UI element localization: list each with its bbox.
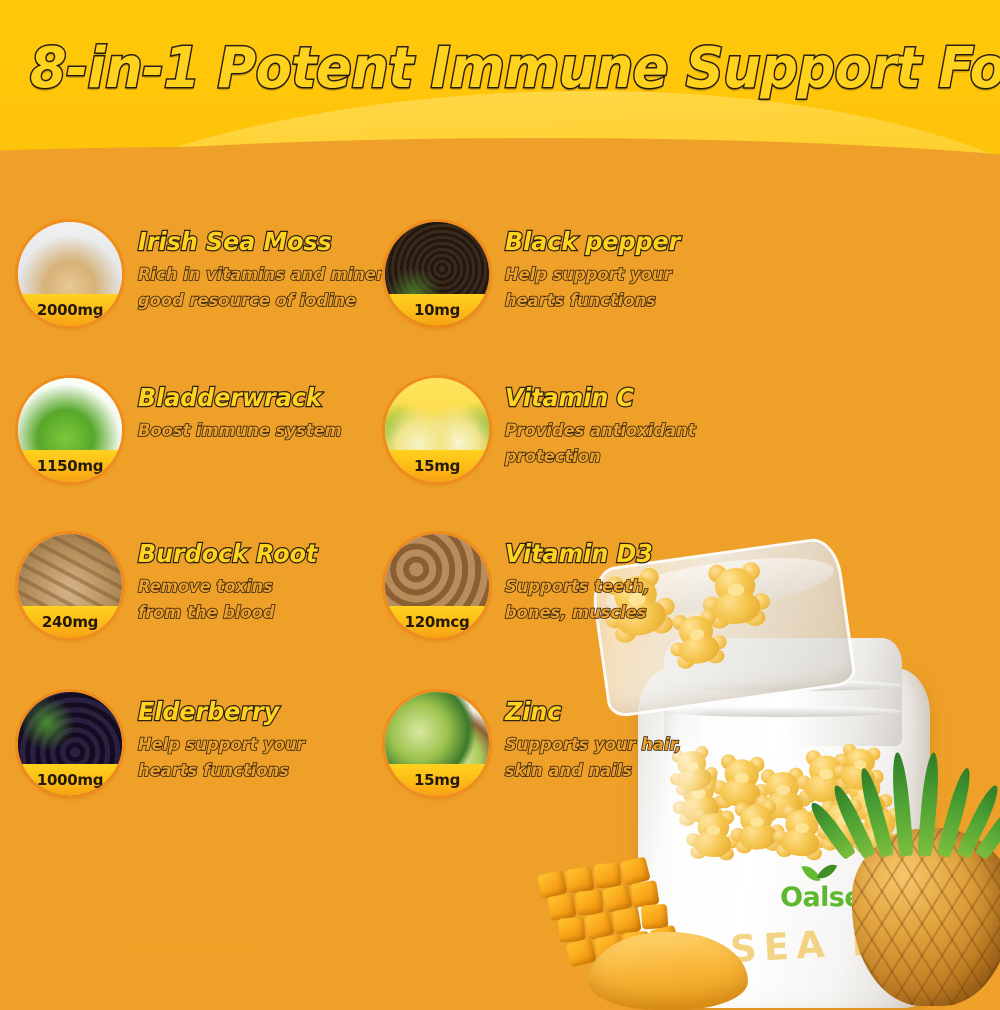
ingredient-text-block: ZincSupports your hair,skin and nails: [505, 698, 755, 784]
ingredient-dose-badge: 1150mg: [18, 450, 122, 482]
ingredient-item: 1000mgElderberryHelp support yourhearts …: [18, 692, 388, 842]
ingredient-photo-badge: 2000mg: [18, 222, 122, 326]
ingredient-name: Vitamin D3: [505, 540, 743, 568]
ingredient-name: Zinc: [505, 698, 743, 726]
ingredient-photo-badge: 15mg: [385, 692, 489, 796]
ingredient-photo-badge: 1150mg: [18, 378, 122, 482]
ingredient-dose-badge: 240mg: [18, 606, 122, 638]
ingredient-photo-badge: 240mg: [18, 534, 122, 638]
ingredient-dose-badge: 15mg: [385, 450, 489, 482]
ingredient-description: Supports teeth,bones, muscles: [505, 574, 745, 627]
ingredient-dose-badge: 10mg: [385, 294, 489, 326]
ingredient-description-line: protection: [505, 444, 745, 470]
ingredient-grid: 2000mgIrish Sea MossRich in vitamins and…: [0, 200, 1000, 880]
ingredient-name: Vitamin C: [505, 384, 743, 412]
ingredient-photo-badge: 1000mg: [18, 692, 122, 796]
ingredient-name: Black pepper: [505, 228, 743, 256]
ingredient-text-block: Black pepperHelp support yourhearts func…: [505, 228, 755, 314]
mango-cube: [641, 904, 669, 930]
ingredient-photo-badge: 120mcg: [385, 534, 489, 638]
ingredient-dose-badge: 1000mg: [18, 764, 122, 796]
ingredient-description-line: Supports your hair,: [505, 732, 745, 758]
ingredient-photo-badge: 10mg: [385, 222, 489, 326]
ingredient-description-line: Supports teeth,: [505, 574, 745, 600]
ingredient-description: Supports your hair,skin and nails: [505, 732, 745, 785]
page-title: 8-in-1 Potent Immune Support Formula: [30, 36, 970, 101]
ingredient-text-block: Vitamin CProvides antioxidantprotection: [505, 384, 755, 470]
ingredient-item: 1150mgBladderwrackBoost immune system: [18, 378, 388, 528]
ingredient-dose-badge: 15mg: [385, 764, 489, 796]
ingredient-description-line: hearts functions: [138, 758, 378, 784]
mango-cube: [558, 917, 586, 943]
ingredient-dose-badge: 2000mg: [18, 294, 122, 326]
ingredient-item: 10mgBlack pepperHelp support yourhearts …: [385, 222, 755, 372]
ingredient-description-line: skin and nails: [505, 758, 745, 784]
ingredient-photo-badge: 15mg: [385, 378, 489, 482]
ingredient-description-line: Provides antioxidant: [505, 418, 745, 444]
ingredient-item: 240mgBurdock RootRemove toxinsfrom the b…: [18, 534, 388, 684]
ingredient-description-line: good resource of iodine: [138, 288, 378, 314]
ingredient-description: Rich in vitamins and minerals,good resou…: [138, 262, 378, 315]
ingredient-name: Elderberry: [138, 698, 376, 726]
ingredient-text-block: ElderberryHelp support yourhearts functi…: [138, 698, 388, 784]
ingredient-item: 15mgVitamin CProvides antioxidantprotect…: [385, 378, 755, 528]
ingredient-item: 120mcgVitamin D3Supports teeth,bones, mu…: [385, 534, 755, 684]
ingredient-text-block: Burdock RootRemove toxinsfrom the blood: [138, 540, 388, 626]
ingredient-text-block: BladderwrackBoost immune system: [138, 384, 388, 444]
ingredient-description-line: Boost immune system: [138, 418, 378, 444]
ingredient-dose-badge: 120mcg: [385, 606, 489, 638]
ingredient-name: Burdock Root: [138, 540, 376, 568]
ingredient-description-line: bones, muscles: [505, 600, 745, 626]
ingredient-item: 2000mgIrish Sea MossRich in vitamins and…: [18, 222, 388, 372]
ingredient-name: Irish Sea Moss: [138, 228, 376, 256]
ingredient-description: Help support yourhearts functions: [505, 262, 745, 315]
mango-cube: [576, 890, 604, 916]
ingredient-description-line: Help support your: [505, 262, 745, 288]
ingredient-description-line: Remove toxins: [138, 574, 378, 600]
ingredient-description-line: from the blood: [138, 600, 378, 626]
ingredient-description-line: hearts functions: [505, 288, 745, 314]
ingredient-text-block: Vitamin D3Supports teeth,bones, muscles: [505, 540, 755, 626]
ingredient-description-line: Help support your: [138, 732, 378, 758]
ingredient-description: Boost immune system: [138, 418, 378, 444]
ingredient-description: Remove toxinsfrom the blood: [138, 574, 378, 627]
ingredient-description: Provides antioxidantprotection: [505, 418, 745, 471]
ingredient-item: 15mgZincSupports your hair,skin and nail…: [385, 692, 755, 842]
ingredient-description: Help support yourhearts functions: [138, 732, 378, 785]
ingredient-text-block: Irish Sea MossRich in vitamins and miner…: [138, 228, 388, 314]
ingredient-name: Bladderwrack: [138, 384, 376, 412]
ingredient-description-line: Rich in vitamins and minerals,: [138, 262, 378, 288]
